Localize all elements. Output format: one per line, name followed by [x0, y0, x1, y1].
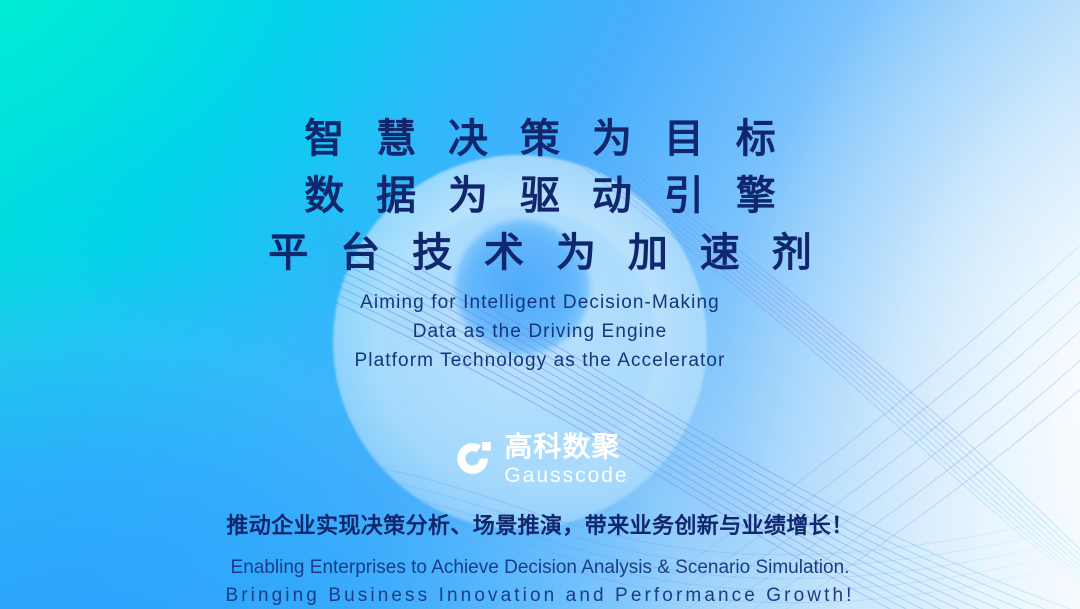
- tagline-english-line-1: Enabling Enterprises to Achieve Decision…: [225, 554, 854, 582]
- tagline-chinese: 推动企业实现决策分析、场景推演，带来业务创新与业绩增长！: [226, 508, 853, 540]
- gausscode-logo: 高科数聚 Gausscode: [451, 433, 628, 486]
- marketing-banner: 智 慧 决 策 为 目 标 数 据 为 驱 动 引 擎 平 台 技 术 为 加 …: [0, 0, 1080, 609]
- headline-line-3: 平 台 技 术 为 加 速 剂: [259, 225, 820, 282]
- tagline-english-block: Enabling Enterprises to Achieve Decision…: [225, 554, 854, 609]
- tagline-english-line-2: Bringing Business Innovation and Perform…: [225, 582, 854, 609]
- subheadline-line-2: Data as the Driving Engine: [355, 317, 726, 346]
- banner-content: 智 慧 决 策 为 目 标 数 据 为 驱 动 引 擎 平 台 技 术 为 加 …: [0, 0, 1080, 609]
- subheadline-line-1: Aiming for Intelligent Decision-Making: [355, 288, 726, 317]
- subheadline-block: Aiming for Intelligent Decision-Making D…: [355, 288, 726, 375]
- gausscode-ring-mark-icon: [451, 438, 495, 482]
- headline-block: 智 慧 决 策 为 目 标 数 据 为 驱 动 引 擎 平 台 技 术 为 加 …: [259, 111, 820, 282]
- logo-wordmark: 高科数聚 Gausscode: [504, 433, 628, 486]
- logo-name-cn: 高科数聚: [504, 433, 620, 461]
- headline-line-2: 数 据 为 驱 动 引 擎: [259, 168, 820, 225]
- logo-name-en: Gausscode: [504, 465, 628, 486]
- subheadline-line-3: Platform Technology as the Accelerator: [355, 346, 726, 375]
- headline-line-1: 智 慧 决 策 为 目 标: [259, 111, 820, 168]
